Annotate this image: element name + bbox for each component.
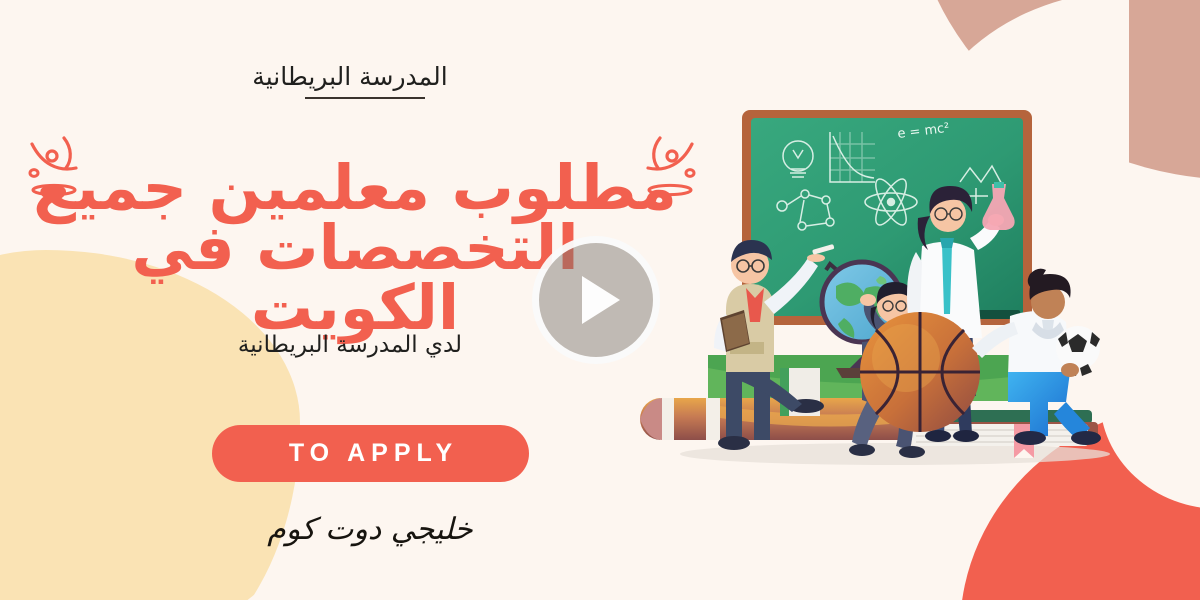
play-icon xyxy=(582,276,620,324)
play-button[interactable] xyxy=(532,236,660,364)
apply-button-label: TO APPLY xyxy=(283,439,458,468)
school-name: المدرسة البريطانية xyxy=(0,62,700,91)
basketball xyxy=(860,312,980,432)
header-underline xyxy=(305,97,425,99)
apply-button[interactable]: TO APPLY xyxy=(212,425,529,482)
classroom-illustration: e = mc² xyxy=(630,110,1150,470)
brand-name: خليجي دوت كوم xyxy=(0,512,740,547)
job-ad-banner: المدرسة البريطانية مطلوب معلمين جميع الت… xyxy=(0,0,1200,600)
